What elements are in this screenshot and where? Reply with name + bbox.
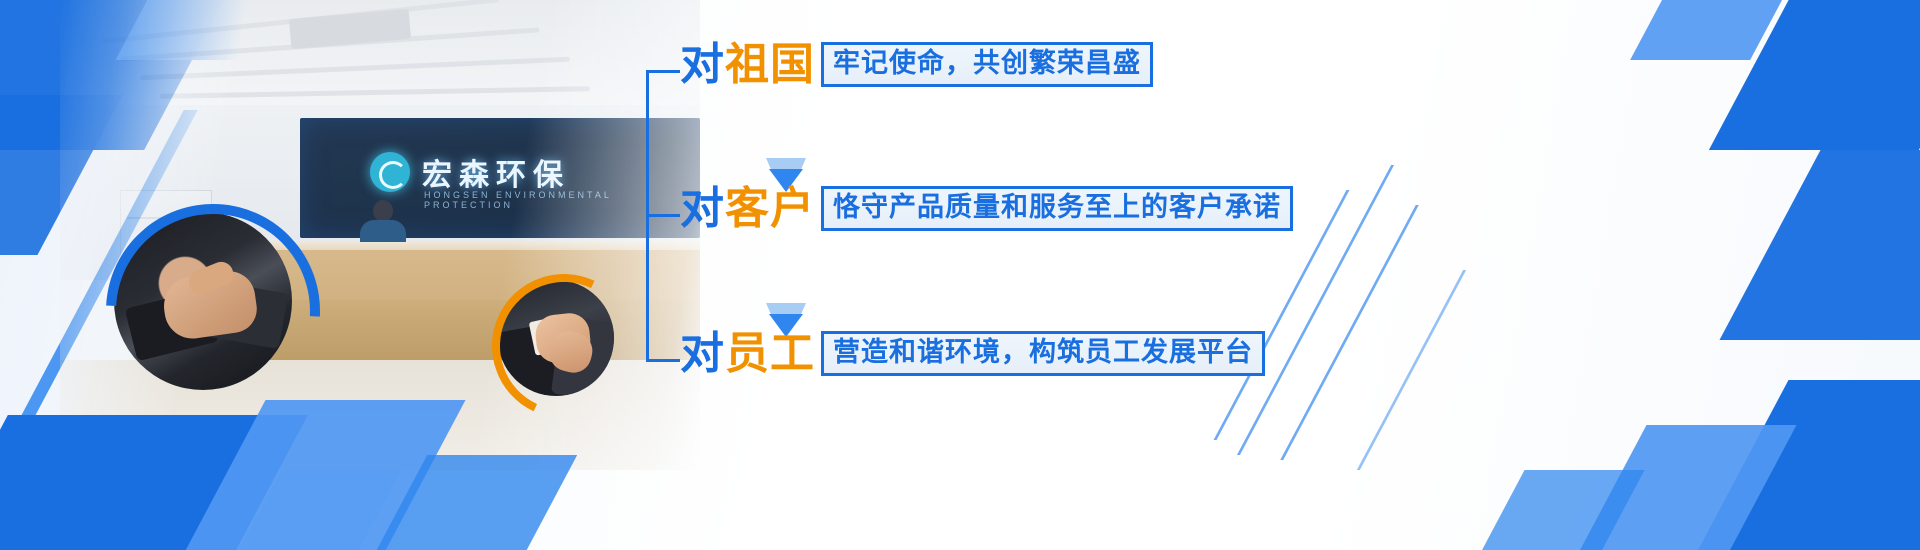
statement-target: 客户: [725, 183, 815, 234]
decor-parallelogram-top-right-2: [1630, 0, 1830, 60]
statement-lead-employee: 对员工: [680, 332, 815, 376]
statement-row-customer: 对客户 恪守产品质量和服务至上的客户承诺: [680, 186, 1293, 231]
decor-parallelogram-bottom-right-3: [1455, 470, 1644, 550]
statement-row-country: 对祖国 牢记使命，共创繁荣昌盛: [680, 42, 1153, 87]
statement-prefix: 对: [680, 39, 725, 90]
statement-row-employee: 对员工 营造和谐环境，构筑员工发展平台: [680, 331, 1265, 376]
statement-lead-country: 对祖国: [680, 43, 815, 87]
company-culture-banner: 宏森环保 HONGSEN ENVIRONMENTAL PROTECTION: [0, 0, 1920, 550]
decor-parallelogram-top-right-3: [1719, 150, 1920, 340]
globe-leaf-icon: [370, 152, 410, 192]
statement-lead-customer: 对客户: [680, 187, 815, 231]
decor-parallelogram-bottom-right-2: [1553, 425, 1796, 550]
brand-name: 宏森环保: [422, 150, 570, 194]
statement-text-customer: 恪守产品质量和服务至上的客户承诺: [821, 186, 1293, 231]
statement-target: 员工: [725, 328, 815, 379]
decor-parallelogram-top-right-1: [1709, 0, 1920, 150]
culture-statement-list: 对祖国 牢记使命，共创繁荣昌盛 对客户 恪守产品质量和服务至上的客户承诺 对员工…: [646, 70, 1366, 400]
statement-target: 祖国: [725, 39, 815, 90]
decor-parallelogram-bottom-right-1: [1672, 380, 1920, 550]
bracket-connector: [646, 70, 680, 362]
statement-text-country: 牢记使命，共创繁荣昌盛: [821, 42, 1153, 87]
statement-prefix: 对: [680, 328, 725, 379]
statement-prefix: 对: [680, 183, 725, 234]
statement-text-employee: 营造和谐环境，构筑员工发展平台: [821, 331, 1265, 376]
